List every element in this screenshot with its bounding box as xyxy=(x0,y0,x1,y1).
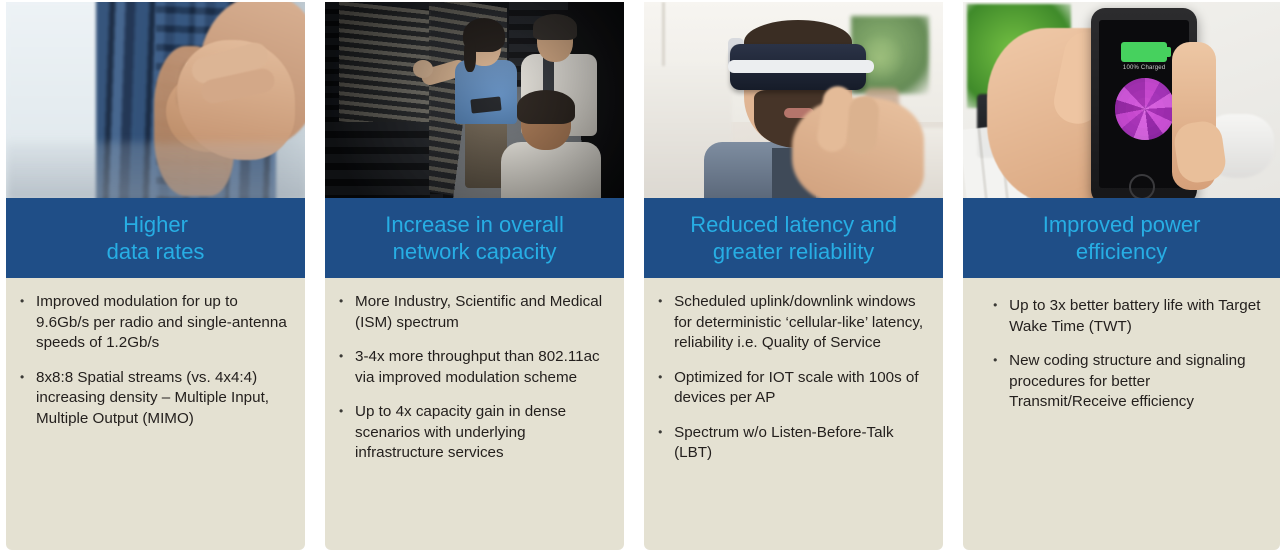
vr-headset-strap xyxy=(728,60,874,73)
foreground-finger-two xyxy=(846,95,880,155)
list-item: 8x8:8 Spatial streams (vs. 4x4:4) increa… xyxy=(16,368,293,430)
home-button xyxy=(1129,174,1155,198)
card-title-band: Higher data rates xyxy=(6,198,305,278)
photo-foreground-blur xyxy=(6,142,305,198)
list-item: Improved modulation for up to 9.6Gb/s pe… xyxy=(16,292,293,354)
vr-headset-user-photo xyxy=(644,2,943,198)
smartphone-battery-charged-photo: 100% Charged xyxy=(963,2,1280,198)
bullet-list: Up to 3x better battery life with Target… xyxy=(989,296,1268,413)
list-item: Spectrum w/o Listen-Before-Talk (LBT) xyxy=(654,423,931,464)
list-item: New coding structure and signaling proce… xyxy=(989,351,1268,413)
feature-card-network-capacity: Increase in overall network capacity Mor… xyxy=(325,2,624,550)
card-body: Improved modulation for up to 9.6Gb/s pe… xyxy=(6,278,305,550)
photo-vignette xyxy=(325,2,624,198)
card-title: Higher data rates xyxy=(107,211,205,265)
list-item: Optimized for IOT scale with 100s of dev… xyxy=(654,368,931,409)
list-item: More Industry, Scientific and Medical (I… xyxy=(335,292,612,333)
card-body: Scheduled uplink/downlink windows for de… xyxy=(644,278,943,550)
card-body: More Industry, Scientific and Medical (I… xyxy=(325,278,624,550)
battery-icon xyxy=(1121,42,1167,62)
feature-card-board: Higher data rates Improved modulation fo… xyxy=(0,0,1280,550)
feature-card-latency-reliability: Reduced latency and greater reliability … xyxy=(644,2,943,550)
list-item: Scheduled uplink/downlink windows for de… xyxy=(654,292,931,354)
flower-wallpaper-petals xyxy=(1115,78,1175,140)
card-title: Improved power efficiency xyxy=(1043,211,1201,265)
feature-card-higher-data-rates: Higher data rates Improved modulation fo… xyxy=(6,2,305,550)
bullet-list: Improved modulation for up to 9.6Gb/s pe… xyxy=(16,292,293,429)
hand-holding-smartphone-photo xyxy=(6,2,305,198)
battery-status-label: 100% Charged xyxy=(1109,64,1179,73)
feature-card-power-efficiency: 100% Charged Improved power efficiency U… xyxy=(963,2,1280,550)
data-center-team-photo xyxy=(325,2,624,198)
bullet-list: More Industry, Scientific and Medical (I… xyxy=(335,292,612,464)
list-item: Up to 3x better battery life with Target… xyxy=(989,296,1268,337)
bullet-list: Scheduled uplink/downlink windows for de… xyxy=(654,292,931,464)
card-title-band: Increase in overall network capacity xyxy=(325,198,624,278)
card-title-band: Reduced latency and greater reliability xyxy=(644,198,943,278)
card-title: Reduced latency and greater reliability xyxy=(690,211,897,265)
card-body: Up to 3x better battery life with Target… xyxy=(963,278,1280,550)
list-item: Up to 4x capacity gain in dense scenario… xyxy=(335,402,612,464)
battery-icon-tip xyxy=(1167,47,1171,57)
card-title: Increase in overall network capacity xyxy=(385,211,564,265)
list-item: 3-4x more throughput than 802.11ac via i… xyxy=(335,347,612,388)
card-title-band: Improved power efficiency xyxy=(963,198,1280,278)
